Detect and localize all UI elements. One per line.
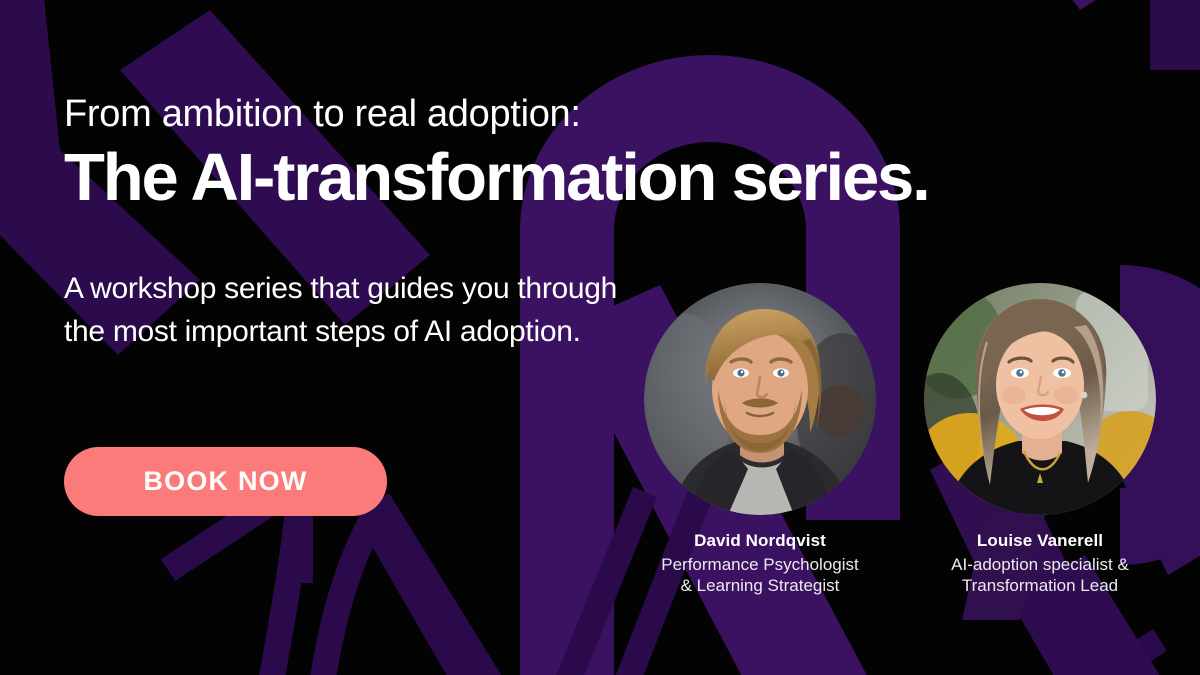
speaker-role: AI-adoption specialist & Transformation …	[951, 554, 1129, 597]
page-title: The AI-transformation series.	[64, 143, 684, 213]
avatar	[644, 283, 876, 515]
speaker-card: David Nordqvist Performance Psychologist…	[620, 283, 900, 597]
portrait-louise-vanerell-icon	[924, 283, 1156, 515]
avatar	[924, 283, 1156, 515]
decor-glyph-outline-right	[1055, 640, 1160, 675]
decor-glyph-top-right	[905, 0, 1160, 10]
hero-subcopy: A workshop series that guides you throug…	[64, 268, 664, 353]
promo-banner: From ambition to real adoption: The AI-t…	[0, 0, 1200, 675]
speaker-name: Louise Vanerell	[977, 531, 1103, 551]
speaker-role: Performance Psychologist & Learning Stra…	[661, 554, 858, 597]
speaker-card: Louise Vanerell AI-adoption specialist &…	[900, 283, 1180, 597]
book-now-button[interactable]: BOOK NOW	[64, 447, 387, 516]
book-now-label: BOOK NOW	[143, 466, 307, 497]
portrait-david-nordqvist-icon	[644, 283, 876, 515]
speaker-name: David Nordqvist	[694, 531, 826, 551]
hero-copy: From ambition to real adoption: The AI-t…	[64, 92, 684, 213]
speakers-row: David Nordqvist Performance Psychologist…	[620, 283, 1180, 597]
eyebrow-text: From ambition to real adoption:	[64, 92, 684, 137]
